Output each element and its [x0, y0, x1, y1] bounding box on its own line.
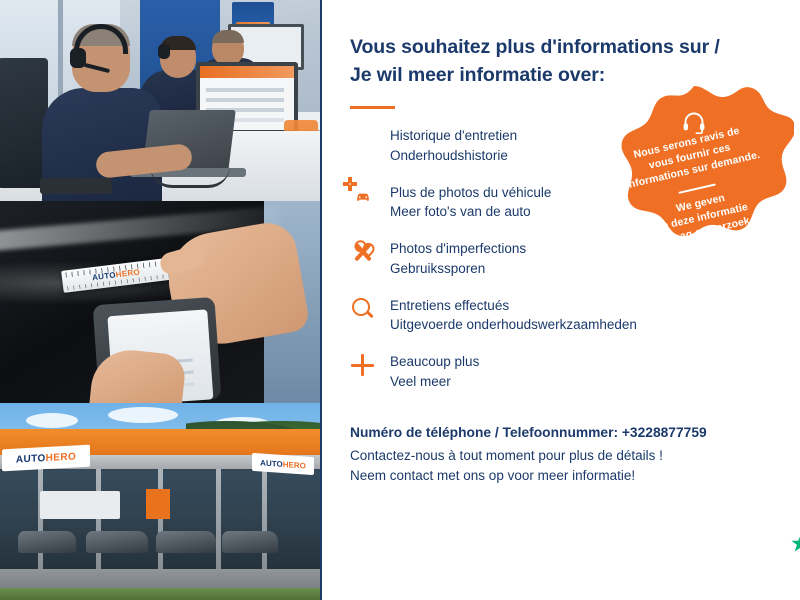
tools-cross-icon — [350, 240, 376, 266]
sign-brand-auto: AUTO — [260, 458, 283, 469]
showroom-car — [18, 531, 76, 553]
facade-pillar — [262, 469, 267, 569]
feature-label-fr: Beaucoup plus — [390, 354, 479, 369]
facade-pillar — [96, 469, 101, 569]
support-promise-badge: Nous serons ravis de vous fournir ces in… — [594, 84, 794, 266]
feature-label-nl: Meer foto's van de auto — [390, 202, 551, 222]
call-center-agents-photo — [0, 0, 320, 201]
feature-text: Beaucoup plus Veel meer — [390, 351, 479, 391]
cloud — [26, 413, 78, 428]
sign-brand-hero: HERO — [46, 451, 77, 464]
content-panel: Vous souhaitez plus d'informations sur /… — [322, 0, 800, 600]
magnifier-icon — [350, 297, 376, 323]
grass-strip — [0, 588, 320, 600]
facade-pillar — [158, 469, 163, 569]
contact-line-nl: Neem contact met ons op voor meer inform… — [350, 466, 790, 486]
list-item: Entretiens effectués Uitgevoerde onderho… — [350, 295, 800, 335]
page-title-line-fr: Vous souhaitez plus d'informations sur / — [350, 34, 800, 62]
trustpilot-logo: Trustpilot — [790, 532, 800, 562]
accent-divider — [350, 106, 395, 109]
feature-label-nl: Gebruikssporen — [390, 259, 526, 279]
facade-pillar — [38, 469, 43, 569]
agent-two-headset-icon — [158, 44, 170, 59]
office-chair — [0, 58, 48, 188]
feature-text: Historique d'entretien Onderhoudshistori… — [390, 125, 517, 165]
vehicle-inspection-ruler-photo: AUTOHERO — [0, 201, 320, 403]
interior-orange-panel — [146, 489, 170, 519]
showroom-car — [156, 531, 216, 553]
car-scan-icon — [350, 184, 376, 210]
document-check-icon — [350, 127, 376, 153]
autohero-info-flyer: AUTOHERO — [0, 0, 800, 600]
cloud — [108, 407, 178, 423]
interior-wall-sign — [40, 491, 120, 519]
feature-label-fr: Plus de photos du véhicule — [390, 185, 551, 200]
dealership-sign-left: AUTOHERO — [2, 445, 90, 472]
desk-tablet — [40, 178, 112, 194]
trustpilot-star-icon — [790, 533, 800, 554]
phone-number[interactable]: Numéro de téléphone / Telefoonnummer: +3… — [350, 425, 790, 440]
feature-label-fr: Photos d'imperfections — [390, 241, 526, 256]
contact-line-fr: Contactez-nous à tout moment pour plus d… — [350, 446, 790, 466]
contact-block: Numéro de téléphone / Telefoonnummer: +3… — [350, 425, 790, 487]
showroom-car — [222, 531, 278, 553]
feature-text: Plus de photos du véhicule Meer foto's v… — [390, 182, 551, 222]
trustpilot-block[interactable]: Trustpilot Excellent • Uitstekend ENTREP… — [790, 515, 800, 562]
photo-column: AUTOHERO — [0, 0, 322, 600]
feature-label-nl: Veel meer — [390, 372, 479, 392]
list-item: Beaucoup plus Veel meer — [350, 351, 800, 391]
feature-label-fr: Historique d'entretien — [390, 128, 517, 143]
sign-brand-hero: HERO — [283, 459, 306, 470]
badge-divider — [678, 183, 715, 193]
feature-label-nl: Uitgevoerde onderhoudswerkzaamheden — [390, 315, 637, 335]
sign-brand-auto: AUTO — [16, 453, 46, 466]
facade-pillar — [216, 469, 221, 569]
feature-text: Entretiens effectués Uitgevoerde onderho… — [390, 295, 637, 335]
agent-three-hair — [212, 30, 244, 43]
showroom-car — [86, 531, 148, 553]
autohero-dealership-photo: AUTOHERO AUTOHERO — [0, 403, 320, 600]
plus-icon — [350, 353, 376, 379]
feature-text: Photos d'imperfections Gebruikssporen — [390, 238, 526, 278]
feature-label-nl: Onderhoudshistorie — [390, 146, 517, 166]
feature-label-fr: Entretiens effectués — [390, 298, 509, 313]
